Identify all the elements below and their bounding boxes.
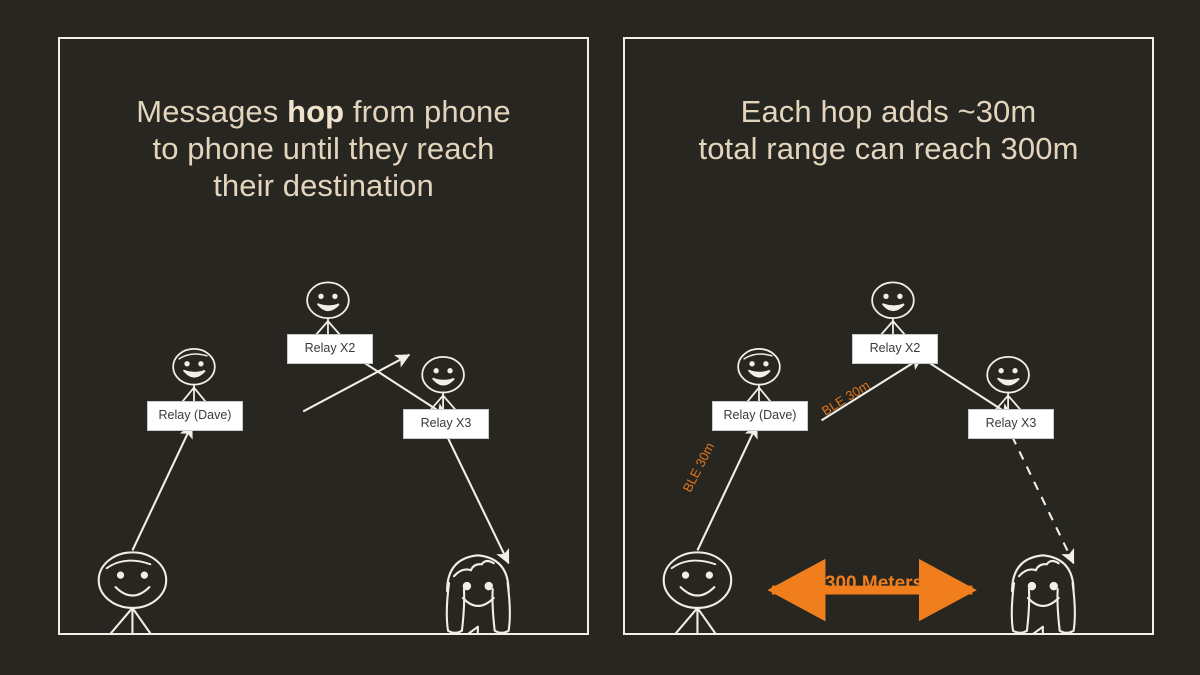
figure-relay-x2 xyxy=(307,282,349,337)
node-label-relay-x2: Relay X2 xyxy=(852,334,938,364)
node-label-relay-dave: Relay (Dave) xyxy=(712,401,808,431)
panel-message-hopping: Messages hop from phoneto phone until th… xyxy=(58,37,589,635)
figure-relay-x2 xyxy=(872,282,914,337)
node-label-relay-x3: Relay X3 xyxy=(403,409,489,439)
figure-recipient xyxy=(1012,555,1075,633)
edge-relay-x3-to-recipient xyxy=(447,436,509,563)
node-label-relay-dave: Relay (Dave) xyxy=(147,401,243,431)
figure-relay-dave xyxy=(173,349,215,405)
slide-canvas: Messages hop from phoneto phone until th… xyxy=(0,0,1200,675)
figure-recipient xyxy=(447,555,510,633)
node-label-relay-x3: Relay X3 xyxy=(968,409,1054,439)
edge-relay-x3-to-recipient xyxy=(1012,436,1074,563)
figure-sender xyxy=(664,552,731,633)
range-measure-label: 300 Meters xyxy=(825,573,923,595)
figure-sender xyxy=(99,552,166,633)
figure-relay-dave xyxy=(738,349,780,405)
node-label-relay-x2: Relay X2 xyxy=(287,334,373,364)
panel-range-extension: Each hop adds ~30mtotal range can reach … xyxy=(623,37,1154,635)
edge-sender-to-relay-dave xyxy=(132,424,192,550)
